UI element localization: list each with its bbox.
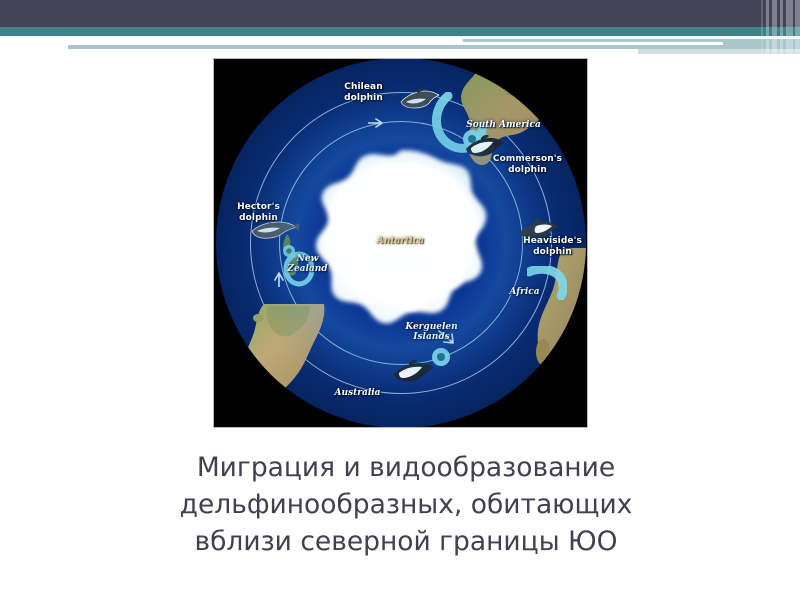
migration-arrow-north (368, 117, 384, 129)
map-label-kerguelen-islands: Kerguelen Islands (398, 322, 466, 342)
map-label-south-america: South America (456, 120, 552, 130)
globe-ocean: Chilean dolphin Commerson's dolphin Heav… (216, 58, 586, 428)
slide-caption: Миграция и видообразование дельфинообраз… (70, 449, 742, 560)
map-label-australia: Australia (324, 388, 392, 398)
map-label-antarctica: Antartica (356, 236, 446, 246)
slide-canvas: Chilean dolphin Commerson's dolphin Heav… (0, 0, 800, 600)
dolphin-icon-kerguelen-commersons (392, 360, 436, 384)
landmass-australia (234, 304, 354, 424)
map-label-africa: Africa (500, 287, 550, 297)
dolphin-icon-chilean (399, 87, 443, 111)
header-thin-white-line (463, 42, 723, 45)
header-vertical-strip-4 (786, 0, 793, 55)
map-label-new-zealand: New Zealand (280, 254, 336, 274)
header-band-pale-low (0, 42, 463, 45)
map-label-heavisides-dolphin: Heaviside's dolphin (510, 236, 586, 258)
header-vertical-strip-5 (795, 0, 800, 55)
map-label-hectors-dolphin: Hector's dolphin (222, 202, 296, 224)
header-vertical-strip-3 (780, 0, 783, 55)
map-label-chilean-dolphin: Chilean dolphin (326, 82, 402, 104)
header-band-dark (0, 0, 800, 27)
caption-line-3: вблизи северной границы ЮО (70, 523, 742, 560)
map-label-commersons-dolphin: Commerson's dolphin (484, 154, 572, 176)
caption-line-2: дельфинообразных, обитающих (70, 486, 742, 523)
header-vertical-strip-1 (766, 0, 769, 55)
caption-line-1: Миграция и видообразование (70, 449, 742, 486)
header-vertical-strip-0 (761, 0, 763, 55)
header-vertical-strip-2 (772, 0, 777, 55)
slide-image-antarctic-dolphin-map[interactable]: Chilean dolphin Commerson's dolphin Heav… (213, 58, 588, 428)
header-band-teal (0, 27, 800, 36)
